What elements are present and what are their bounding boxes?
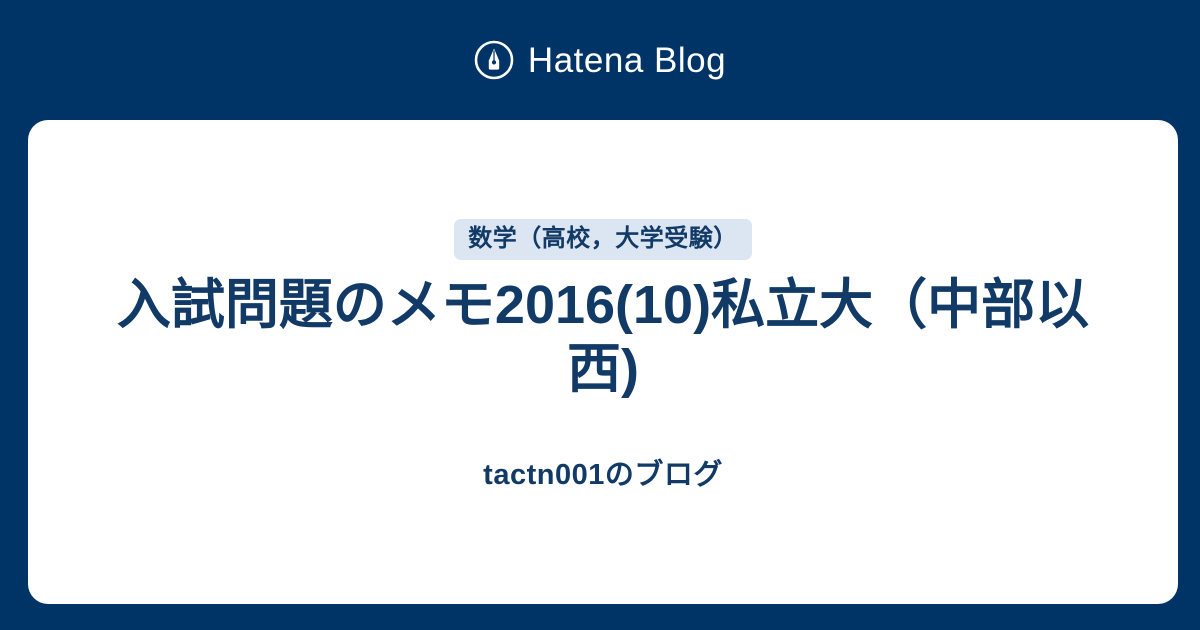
entry-panel: 数学（高校，大学受験） 入試問題のメモ2016(10)私立大（中部以西) tac… [28, 120, 1178, 604]
brand-name: Hatena Blog [528, 43, 726, 78]
blog-name[interactable]: tactn001のブログ [483, 461, 723, 490]
entry-title-line-1: 入試問題のメモ2016(10)私立大 [117, 275, 873, 335]
page-title: 入試問題のメモ2016(10)私立大（中部以西) [98, 274, 1108, 401]
og-card: Hatena Blog 数学（高校，大学受験） 入試問題のメモ2016(10)私… [0, 0, 1200, 630]
hatena-blog-logo [474, 40, 514, 80]
site-header: Hatena Blog [0, 0, 1200, 120]
fountain-pen-nib-circle-icon [474, 40, 514, 80]
category-tag[interactable]: 数学（高校，大学受験） [454, 219, 752, 260]
